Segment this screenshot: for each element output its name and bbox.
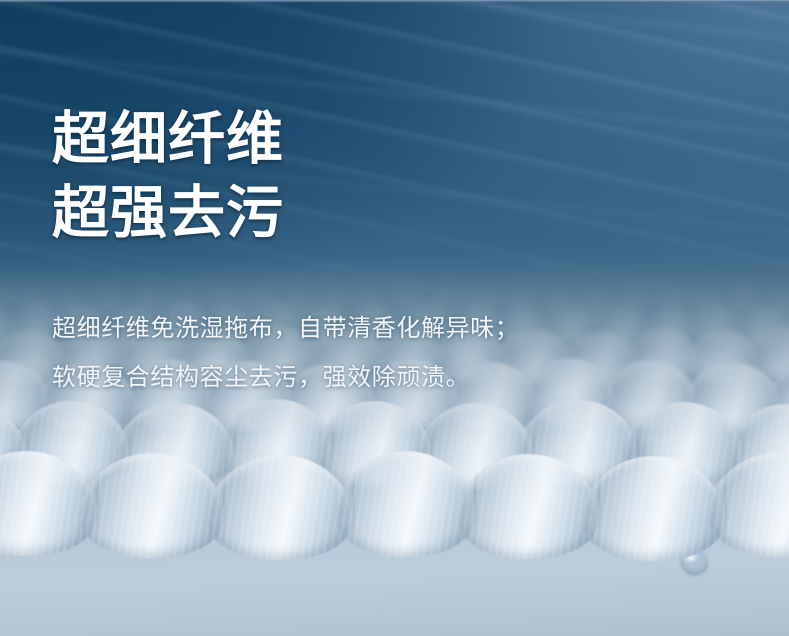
fiber-loop	[0, 361, 50, 429]
fiber-loop	[729, 404, 789, 489]
fiber-loop	[458, 454, 599, 559]
fiber-loop	[13, 273, 48, 298]
fiber-loop	[759, 268, 789, 293]
water-droplet	[681, 550, 708, 575]
weave-row	[0, 453, 789, 558]
fiber-loop	[12, 285, 53, 316]
fiber-loop	[750, 326, 789, 379]
weave-row	[0, 402, 789, 487]
subcopy-line-1: 超细纤维免洗湿拖布，自带清香化解异味；	[52, 304, 752, 353]
fiber-loop	[786, 270, 789, 295]
fiber-loop	[769, 359, 789, 427]
fiber-loop	[15, 267, 47, 277]
fiber-loop	[784, 302, 789, 343]
headline-line-2: 超强去污	[52, 177, 752, 249]
fiber-loop	[0, 328, 1, 381]
fiber-loop	[116, 403, 235, 488]
fiber-loop	[623, 402, 743, 487]
fiber-loop	[207, 455, 353, 560]
fiber-loop	[0, 451, 97, 556]
fiber-loop	[336, 451, 475, 556]
product-promo-banner: 超细纤维 超强去污 超细纤维免洗湿拖布，自带清香化解异味； 软硬复合结构容尘去污…	[0, 0, 789, 636]
fiber-loop	[0, 267, 19, 281]
fiber-loop	[708, 452, 789, 557]
fiber-loop	[13, 401, 130, 486]
fiber-loop	[220, 399, 332, 484]
fiber-loop	[0, 306, 16, 347]
fiber-loop	[758, 287, 789, 318]
fiber-loop	[318, 401, 432, 486]
banner-content: 超细纤维 超强去污 超细纤维免洗湿拖布，自带清香化解异味； 软硬复合结构容尘去污…	[52, 0, 752, 402]
headline-line-1: 超细纤维	[52, 103, 752, 175]
fiber-loop	[0, 271, 17, 296]
fiber-loop	[757, 267, 789, 278]
fiber-loop	[519, 400, 637, 485]
subcopy-line-2: 软硬复合结构容尘去污，强效除顽渍。	[52, 353, 752, 402]
fiber-loop	[80, 453, 224, 558]
fiber-loop	[0, 405, 27, 490]
fiber-loop	[582, 456, 725, 561]
fiber-loop	[418, 403, 534, 488]
fiber-loop	[0, 283, 17, 314]
